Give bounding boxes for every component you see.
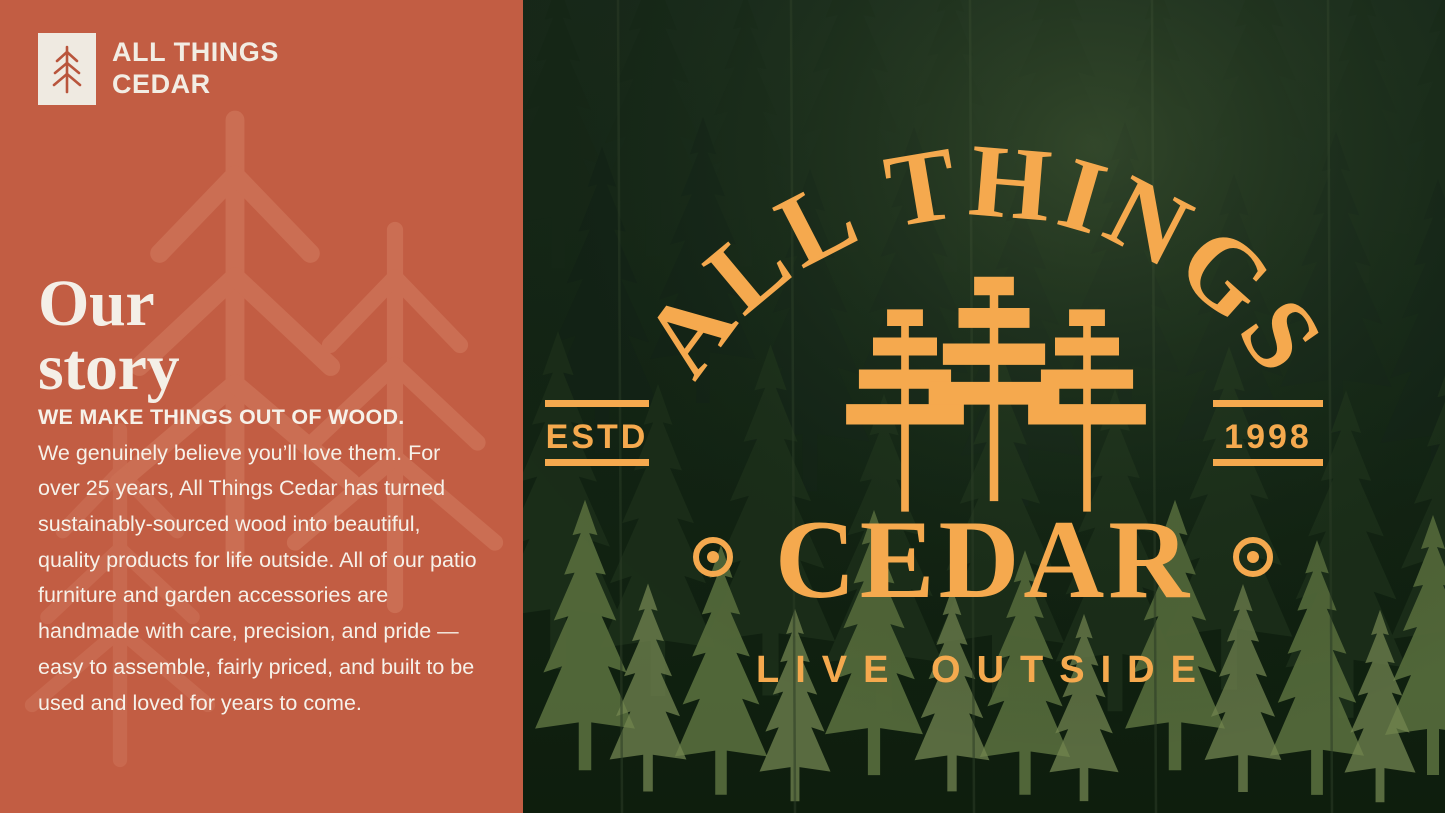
brand-logo[interactable]: ALL THINGS CEDAR <box>38 33 279 105</box>
cedar-badge-logo: ALL THINGS ESTD <box>523 0 1445 813</box>
pine-tree-icon <box>38 33 96 105</box>
about-hero: ALL THINGS CEDAR Our story WE MAKE THING… <box>0 0 1445 813</box>
story-panel: ALL THINGS CEDAR Our story WE MAKE THING… <box>0 0 523 813</box>
concentric-circle-ornament-left <box>696 540 730 574</box>
year-label: 1998 <box>1224 418 1312 456</box>
story-lead: WE MAKE THINGS OUT OF WOOD. <box>38 400 488 436</box>
story-text: WE MAKE THINGS OUT OF WOOD. We genuinely… <box>38 400 488 721</box>
badge-wordmark: CEDAR <box>775 498 1193 622</box>
estd-block: ESTD <box>545 400 649 466</box>
forest-photo-panel: ALL THINGS ESTD <box>523 0 1445 813</box>
page-title: Our story <box>38 272 179 400</box>
estd-label: ESTD <box>546 418 649 456</box>
story-paragraph: We genuinely believe you’ll love them. F… <box>38 436 488 722</box>
badge-tagline: LIVE OUTSIDE <box>756 649 1212 691</box>
brand-name: ALL THINGS CEDAR <box>112 37 279 100</box>
concentric-circle-ornament-right <box>1236 540 1270 574</box>
badge-tree-group <box>846 267 1146 512</box>
year-block: 1998 <box>1213 400 1323 466</box>
